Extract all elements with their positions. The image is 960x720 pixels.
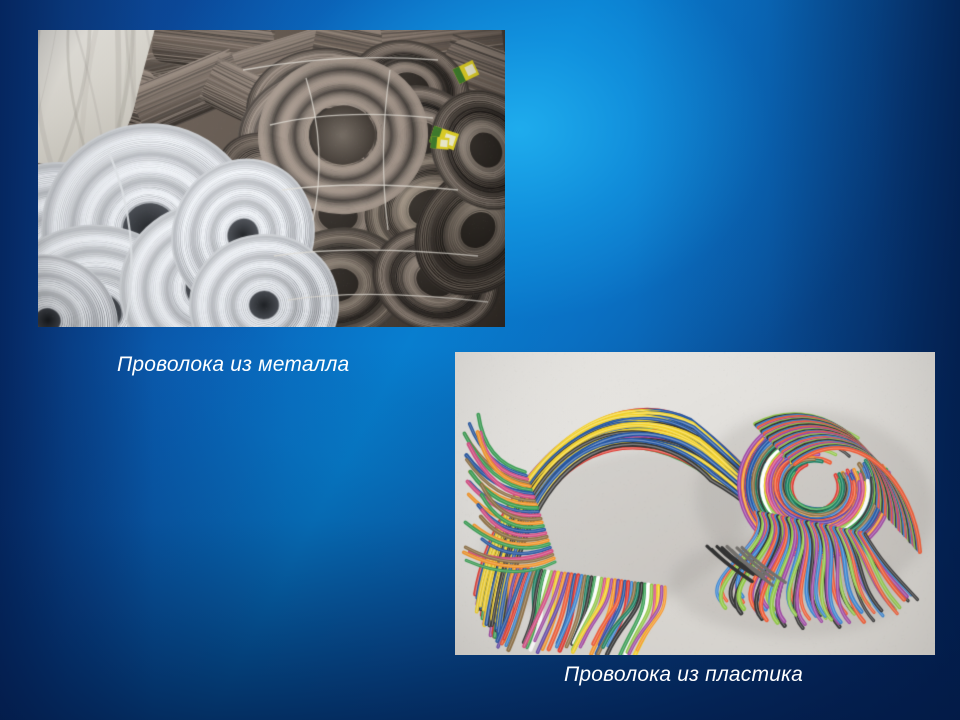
photo-plastic-wire [455,352,935,655]
caption-metal-wire: Проволока из металла [117,352,349,378]
caption-plastic-wire: Проволока из пластика [564,662,803,688]
photo-metal-wire-image [38,30,505,327]
photo-metal-wire [38,30,505,327]
slide-canvas: Проволока из металла Проволока из пласти… [0,0,960,720]
photo-plastic-wire-image [455,352,935,655]
